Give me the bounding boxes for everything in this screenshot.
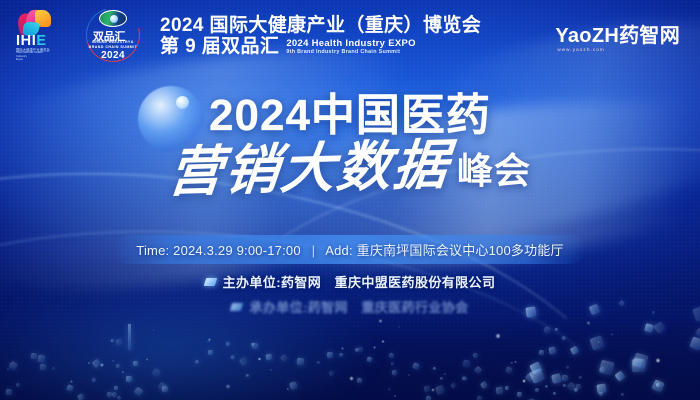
info-separator: | xyxy=(312,243,316,258)
event-date: 2024.3.29 xyxy=(173,243,233,258)
co-organizer-text: 承办单位:药智网 重庆医药行业协会 xyxy=(249,300,468,315)
organizer-text: 主办单位:药智网 重庆中盟医药股份有限公司 xyxy=(223,275,496,290)
organizer-line-secondary: 承办单位:药智网 重庆医药行业协会 xyxy=(0,297,700,316)
conference-poster: IHIE 国际大健康产业博览会 International Health Ind… xyxy=(0,0,700,400)
event-title-line1: 2024 国际大健康产业（重庆）博览会 xyxy=(160,15,481,36)
event-title-english: 2024 Health Industry EXPO 9th Brand Indu… xyxy=(286,39,415,57)
summit-year: 2024 xyxy=(82,50,144,61)
event-address-label: Add: xyxy=(325,243,353,258)
main-title-line2: 营销大数据 峰会 xyxy=(0,138,700,198)
main-title-calligraphy: 营销大数据 xyxy=(166,134,453,202)
main-title-line1: 2024中国医药 xyxy=(0,92,700,140)
bullet-square-icon xyxy=(203,278,217,286)
event-info-bar: Time: 2024.3.29 9:00-17:00 | Add: 重庆南坪国际… xyxy=(114,235,585,264)
ihie-english-sub: International Health Industry Expo xyxy=(16,51,43,62)
event-time-label: Time: xyxy=(136,243,169,258)
poster-header: IHIE 国际大健康产业博览会 International Health Ind… xyxy=(0,0,700,72)
bullet-square-icon xyxy=(230,303,244,311)
yaozh-logo[interactable]: YaoZH药智网 www.yaozh.com xyxy=(555,26,688,47)
event-title-block: 2024 国际大健康产业（重庆）博览会 第 9 届双品汇 2024 Health… xyxy=(160,15,481,57)
yaozh-url: www.yaozh.com xyxy=(557,47,605,52)
event-address: 重庆南坪国际会议中心100多功能厅 xyxy=(357,243,564,258)
organizer-line-primary: 主办单位:药智网 重庆中盟医药股份有限公司 xyxy=(0,272,700,291)
shuangpinhui-logo: 双品汇 BRAND INDUSTRY& BRAND CHAIN SUMMIT 2… xyxy=(82,7,144,65)
event-title-line2-cn: 第 9 届双品汇 xyxy=(160,37,279,57)
event-hours: 9:00-17:00 xyxy=(237,243,301,258)
main-title-suffix: 峰会 xyxy=(457,142,531,194)
yaozh-wordmark: YaoZH药智网 xyxy=(555,26,680,47)
ihie-logo: IHIE 国际大健康产业博览会 International Health Ind… xyxy=(12,10,68,62)
summit-globe-icon xyxy=(99,10,127,27)
main-title: 2024中国医药 营销大数据 峰会 xyxy=(0,92,700,198)
summit-english: BRAND INDUSTRY& BRAND CHAIN SUMMIT xyxy=(87,40,139,49)
